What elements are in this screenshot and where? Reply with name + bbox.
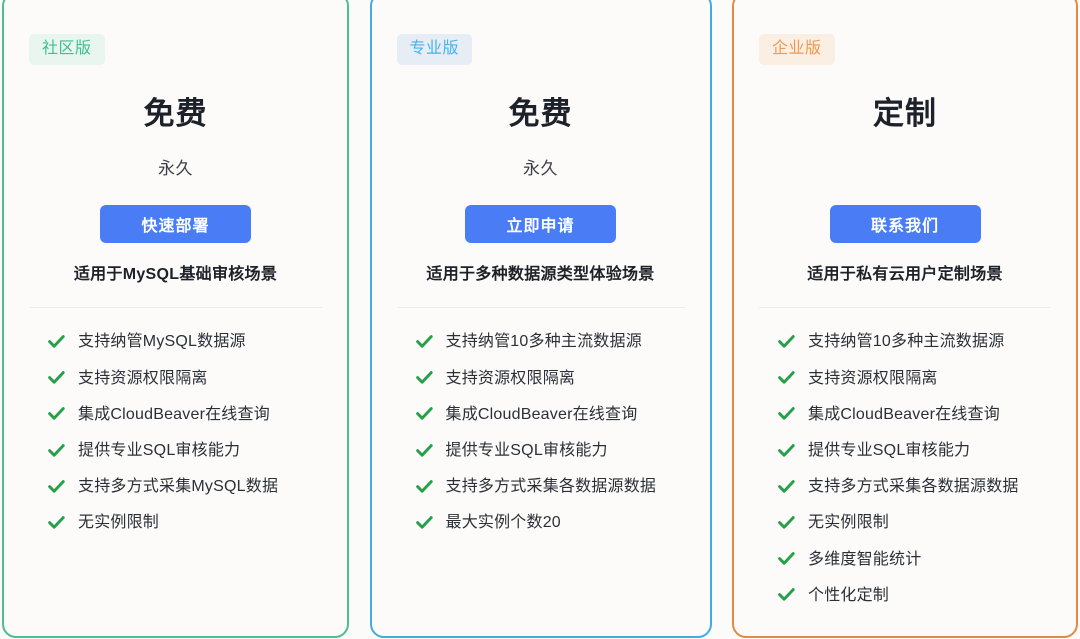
feature-label: 个性化定制: [808, 586, 889, 605]
check-icon: [778, 407, 795, 421]
feature-label: 集成CloudBeaver在线查询: [808, 405, 1000, 424]
deploy-button[interactable]: 快速部署: [100, 205, 251, 243]
check-icon: [778, 444, 795, 458]
list-item: 支持多方式采集各数据源数据: [778, 477, 1054, 496]
plan-divider-enterprise: [759, 307, 1051, 308]
plan-divider-professional: [397, 307, 685, 308]
list-item: 支持纳管MySQL数据源: [48, 332, 325, 351]
check-icon: [416, 444, 433, 458]
plan-price-community: 免费: [26, 95, 325, 132]
feature-label: 支持资源权限隔离: [808, 369, 938, 388]
plan-tagline-enterprise: 适用于私有云用户定制场景: [756, 265, 1054, 284]
plan-badge-enterprise: 企业版: [759, 34, 835, 65]
check-icon: [416, 371, 433, 385]
feature-label: 支持资源权限隔离: [78, 369, 208, 388]
list-item: 支持纳管10多种主流数据源: [778, 332, 1054, 351]
feature-list-community: 支持纳管MySQL数据源 支持资源权限隔离 集成CloudBeaver在线查询 …: [26, 332, 325, 549]
feature-label: 提供专业SQL审核能力: [78, 441, 240, 460]
feature-label: 支持纳管MySQL数据源: [78, 332, 246, 351]
list-item: 支持资源权限隔离: [48, 369, 325, 388]
plan-tagline-community: 适用于MySQL基础审核场景: [26, 265, 325, 284]
feature-label: 提供专业SQL审核能力: [446, 441, 608, 460]
check-icon: [416, 407, 433, 421]
list-item: 提供专业SQL审核能力: [416, 441, 688, 460]
feature-label: 无实例限制: [78, 513, 159, 532]
list-item: 支持资源权限隔离: [778, 369, 1054, 388]
list-item: 集成CloudBeaver在线查询: [416, 405, 688, 424]
list-item: 支持多方式采集MySQL数据: [48, 477, 325, 496]
plan-cta-row-community: 快速部署: [26, 205, 325, 243]
check-icon: [48, 407, 65, 421]
feature-label: 无实例限制: [808, 513, 889, 532]
plan-price-enterprise: 定制: [756, 95, 1054, 132]
list-item: 最大实例个数20: [416, 513, 688, 532]
check-icon: [48, 335, 65, 349]
plan-cta-row-professional: 立即申请: [394, 205, 688, 243]
plan-cta-row-enterprise: 联系我们: [756, 205, 1054, 243]
check-icon: [778, 588, 795, 602]
list-item: 无实例限制: [48, 513, 325, 532]
feature-label: 集成CloudBeaver在线查询: [78, 405, 270, 424]
list-item: 提供专业SQL审核能力: [778, 441, 1054, 460]
feature-label: 多维度智能统计: [808, 550, 921, 569]
check-icon: [778, 335, 795, 349]
feature-list-enterprise: 支持纳管10多种主流数据源 支持资源权限隔离 集成CloudBeaver在线查询…: [756, 332, 1054, 622]
check-icon: [416, 480, 433, 494]
feature-label: 支持资源权限隔离: [446, 369, 576, 388]
plan-price-professional: 免费: [394, 95, 688, 132]
check-icon: [416, 335, 433, 349]
pricing-plans-board: 社区版 免费 永久 快速部署 适用于MySQL基础审核场景 支持纳管MySQL数…: [0, 0, 1080, 639]
list-item: 集成CloudBeaver在线查询: [48, 405, 325, 424]
feature-label: 支持多方式采集各数据源数据: [808, 477, 1019, 496]
list-item: 支持多方式采集各数据源数据: [416, 477, 688, 496]
check-icon: [778, 552, 795, 566]
list-item: 多维度智能统计: [778, 550, 1054, 569]
feature-label: 集成CloudBeaver在线查询: [446, 405, 638, 424]
list-item: 集成CloudBeaver在线查询: [778, 405, 1054, 424]
plan-card-enterprise: 企业版 定制 联系我们 适用于私有云用户定制场景 支持纳管10多种主流数据源 支…: [732, 0, 1078, 638]
list-item: 个性化定制: [778, 586, 1054, 605]
plan-card-professional: 专业版 免费 永久 立即申请 适用于多种数据源类型体验场景 支持纳管10多种主流…: [370, 0, 712, 638]
list-item: 支持纳管10多种主流数据源: [416, 332, 688, 351]
feature-label: 支持纳管10多种主流数据源: [446, 332, 642, 351]
feature-label: 支持多方式采集MySQL数据: [78, 477, 278, 496]
list-item: 提供专业SQL审核能力: [48, 441, 325, 460]
plan-tagline-professional: 适用于多种数据源类型体验场景: [394, 265, 688, 284]
feature-list-professional: 支持纳管10多种主流数据源 支持资源权限隔离 集成CloudBeaver在线查询…: [394, 332, 688, 549]
list-item: 支持资源权限隔离: [416, 369, 688, 388]
check-icon: [778, 371, 795, 385]
feature-label: 提供专业SQL审核能力: [808, 441, 970, 460]
plan-period-community: 永久: [26, 159, 325, 180]
feature-label: 支持多方式采集各数据源数据: [446, 477, 657, 496]
check-icon: [416, 516, 433, 530]
apply-button[interactable]: 立即申请: [465, 205, 616, 243]
list-item: 无实例限制: [778, 513, 1054, 532]
check-icon: [778, 516, 795, 530]
check-icon: [48, 516, 65, 530]
feature-label: 支持纳管10多种主流数据源: [808, 332, 1004, 351]
plan-card-community: 社区版 免费 永久 快速部署 适用于MySQL基础审核场景 支持纳管MySQL数…: [2, 0, 349, 638]
check-icon: [48, 480, 65, 494]
plan-period-professional: 永久: [394, 159, 688, 180]
check-icon: [778, 480, 795, 494]
plan-divider-community: [29, 307, 322, 308]
feature-label: 最大实例个数20: [446, 513, 561, 532]
contact-us-button[interactable]: 联系我们: [830, 205, 981, 243]
plan-badge-professional: 专业版: [397, 34, 473, 65]
check-icon: [48, 444, 65, 458]
plan-period-enterprise: [756, 159, 1054, 180]
plan-badge-community: 社区版: [29, 34, 105, 65]
check-icon: [48, 371, 65, 385]
